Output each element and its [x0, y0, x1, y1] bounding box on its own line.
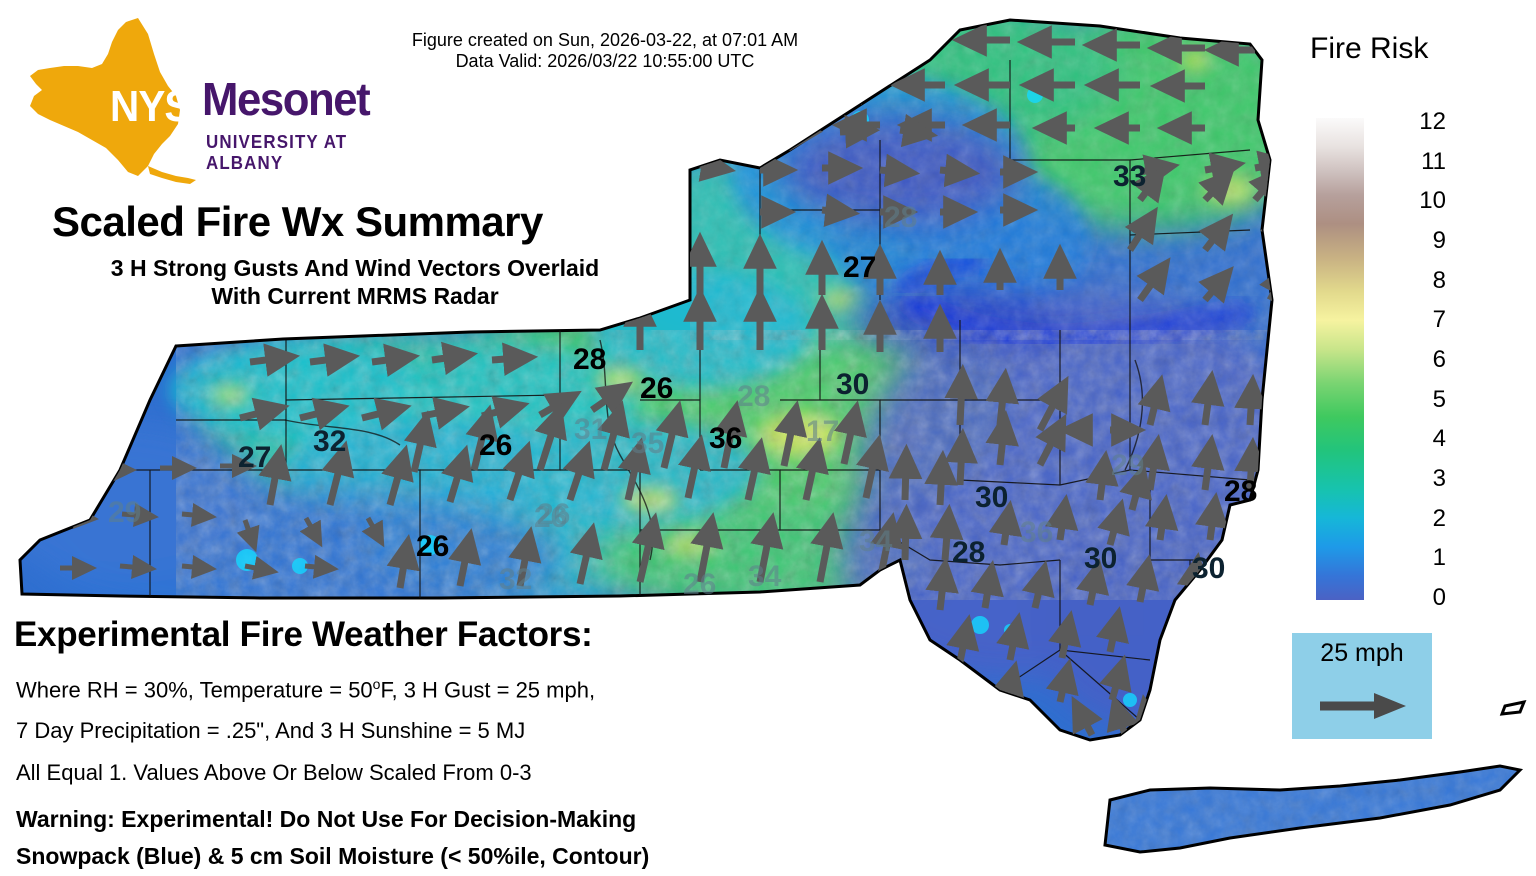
colorbar-tick-1: 1 [1402, 544, 1446, 572]
gust-label: 31 [574, 415, 607, 445]
colorbar-tick-10: 10 [1402, 187, 1446, 215]
factors-line-2: 7 Day Precipitation = .25", And 3 H Suns… [16, 718, 525, 744]
wind-scale-label: 25 mph [1292, 639, 1432, 668]
gust-label: 33 [1113, 162, 1146, 192]
gust-label: 32 [499, 565, 532, 595]
gust-label: 28 [884, 203, 917, 233]
colorbar-tick-11: 11 [1402, 148, 1446, 176]
gust-label: 26 [640, 374, 673, 404]
gust-label: 34 [859, 527, 892, 557]
colorbar-tick-6: 6 [1402, 346, 1446, 374]
gust-label: 30 [975, 483, 1008, 513]
gust-label: 29 [1111, 451, 1144, 481]
gust-label: 30 [836, 370, 869, 400]
gust-label: 27 [843, 253, 876, 283]
colorbar-tick-5: 5 [1402, 386, 1446, 414]
gust-label: 26 [683, 570, 716, 600]
logo-mesonet-text: Mesonet [202, 72, 369, 126]
gust-label: 34 [748, 562, 781, 592]
factors-line-1b: F, 3 H Gust = 25 mph, [380, 677, 595, 702]
colorbar-tick-4: 4 [1402, 425, 1446, 453]
gust-label: 36 [709, 424, 742, 454]
warning-line-1: Warning: Experimental! Do Not Use For De… [16, 806, 636, 833]
gust-label: 35 [631, 429, 664, 459]
nys-mesonet-logo: NYS Mesonet UNIVERSITY AT ALBANY [20, 14, 375, 184]
wind-scale-legend: 25 mph [1292, 633, 1432, 739]
gust-label: 30 [1192, 554, 1225, 584]
factors-heading: Experimental Fire Weather Factors: [14, 615, 593, 655]
factors-line-1: Where RH = 30%, Temperature = 50oF, 3 H … [16, 676, 595, 703]
fire-risk-colorbar [1316, 118, 1364, 600]
gust-label: 28 [1224, 477, 1257, 507]
logo-nys-text: NYS [110, 82, 190, 132]
gust-label: 17 [806, 417, 839, 447]
colorbar-tick-9: 9 [1402, 227, 1446, 255]
gust-label: 29 [108, 498, 141, 528]
gust-label: 28 [952, 538, 985, 568]
gust-label: 36 [1020, 518, 1053, 548]
colorbar-tick-12: 12 [1402, 108, 1446, 136]
subtitle-line-1: 3 H Strong Gusts And Wind Vectors Overla… [30, 254, 680, 282]
gust-label: 26 [479, 431, 512, 461]
factors-line-1a: Where RH = 30%, Temperature = 50 [16, 677, 373, 702]
gust-label: 27 [238, 443, 271, 473]
gust-label: 26 [416, 532, 449, 562]
page-title: Scaled Fire Wx Summary [52, 198, 543, 246]
gust-label: 28 [573, 345, 606, 375]
warning-line-2: Snowpack (Blue) & 5 cm Soil Moisture (< … [16, 843, 649, 870]
colorbar-tick-8: 8 [1402, 267, 1446, 295]
colorbar-title: Fire Risk [1310, 32, 1428, 66]
gust-label: 32 [313, 427, 346, 457]
wind-reference-arrow-icon [1316, 689, 1410, 723]
colorbar-tick-3: 3 [1402, 465, 1446, 493]
page-subtitle: 3 H Strong Gusts And Wind Vectors Overla… [30, 254, 680, 310]
gust-label: 28 [737, 382, 770, 412]
factors-line-3: All Equal 1. Values Above Or Below Scale… [16, 760, 532, 786]
colorbar-tick-7: 7 [1402, 306, 1446, 334]
figure-created-text: Figure created on Sun, 2026-03-22, at 07… [360, 30, 850, 51]
colorbar-tick-0: 0 [1402, 584, 1446, 612]
data-valid-text: Data Valid: 2026/03/22 10:55:00 UTC [360, 51, 850, 72]
subtitle-line-2: With Current MRMS Radar [30, 282, 680, 310]
logo-university-text: UNIVERSITY AT ALBANY [206, 132, 365, 174]
timestamp-block: Figure created on Sun, 2026-03-22, at 07… [360, 30, 850, 72]
gust-label: 30 [1084, 544, 1117, 574]
colorbar-tick-2: 2 [1402, 505, 1446, 533]
gust-label: 26 [534, 503, 567, 533]
